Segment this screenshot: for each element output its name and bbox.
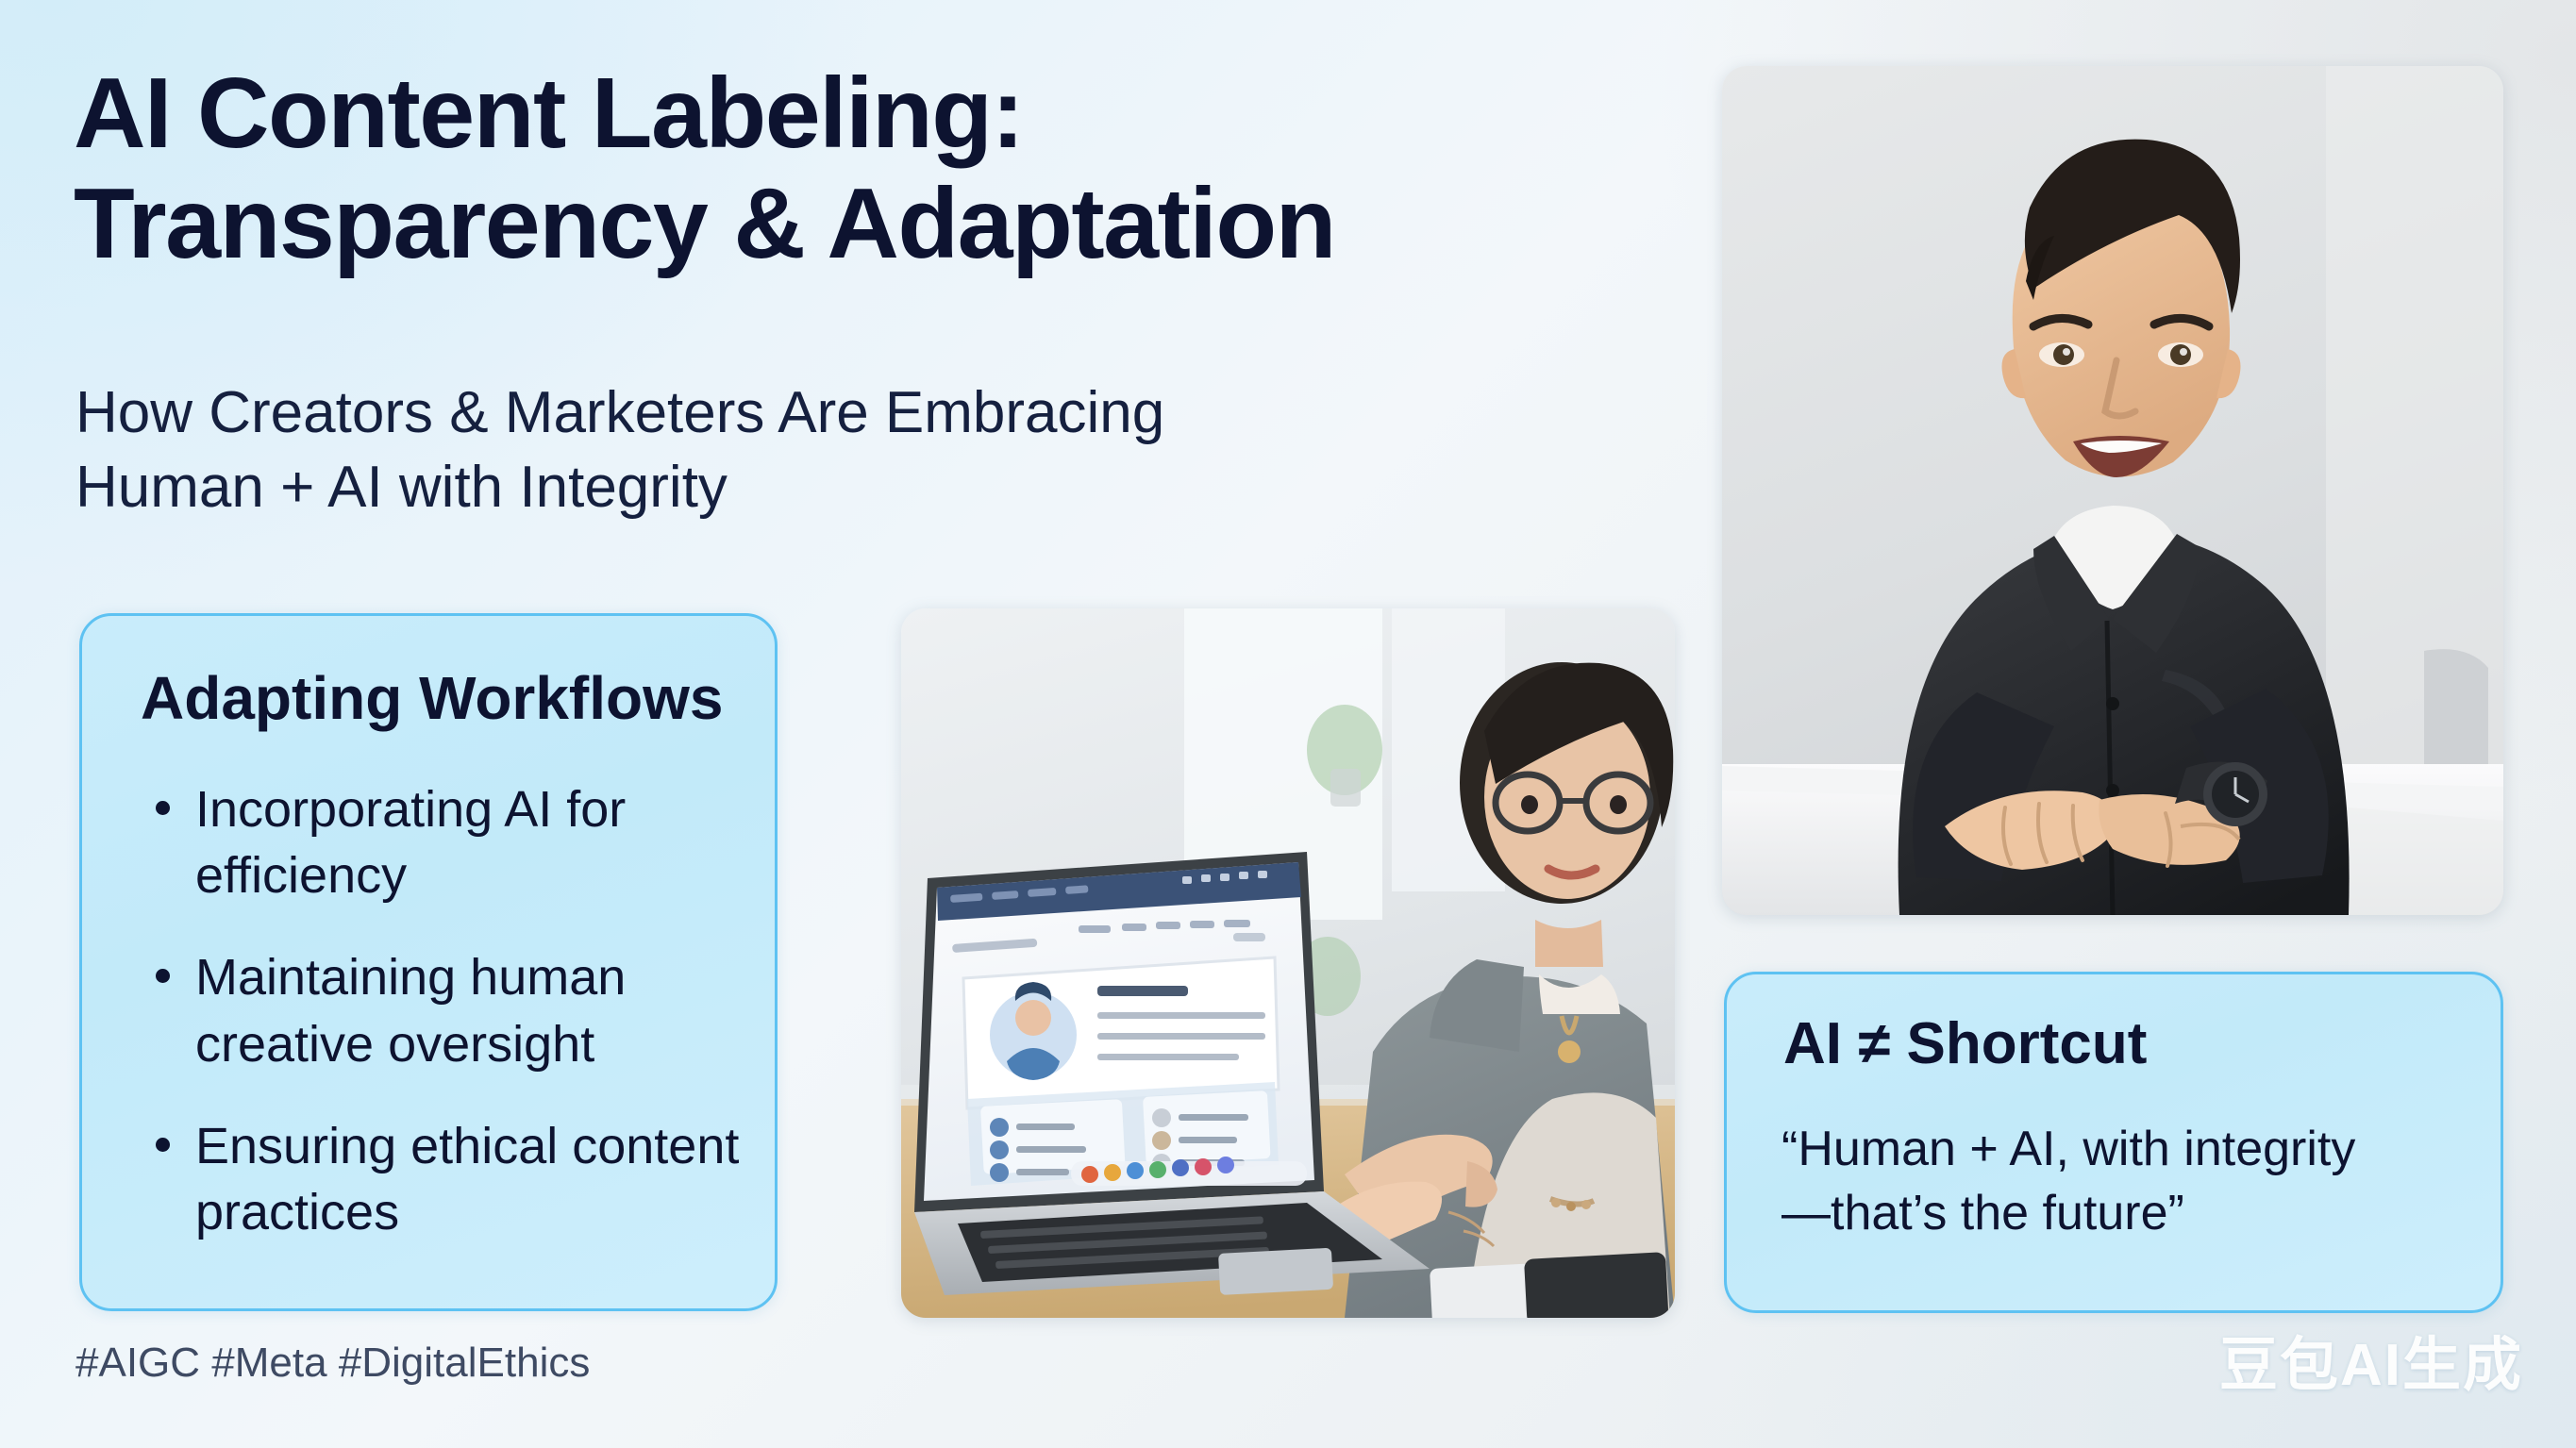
quote-line-1: “Human + AI, with integrity bbox=[1781, 1118, 2476, 1182]
list-item: Maintaining human creative oversight bbox=[131, 944, 743, 1076]
slide-canvas: AI Content Labeling: Transparency & Adap… bbox=[0, 0, 2576, 1448]
adapting-workflows-bullet-list: Incorporating AI for efficiency Maintain… bbox=[131, 776, 743, 1281]
ai-not-shortcut-card: AI ≠ Shortcut “Human + AI, with integrit… bbox=[1724, 972, 2503, 1313]
page-subtitle-line-1: How Creators & Marketers Are Embracing bbox=[75, 375, 1585, 450]
adapting-workflows-title: Adapting Workflows bbox=[141, 663, 723, 733]
portrait-photo bbox=[1722, 66, 2503, 915]
ai-generated-watermark: 豆包AI生成 bbox=[2219, 1317, 2523, 1402]
list-item: Incorporating AI for efficiency bbox=[131, 776, 743, 908]
laptop-workspace-illustration bbox=[901, 608, 1675, 1318]
page-title: AI Content Labeling: Transparency & Adap… bbox=[74, 58, 1734, 278]
page-title-line-2: Transparency & Adaptation bbox=[74, 169, 1734, 279]
page-subtitle: How Creators & Marketers Are Embracing H… bbox=[75, 375, 1585, 525]
ai-not-shortcut-title: AI ≠ Shortcut bbox=[1783, 1010, 2147, 1077]
laptop-workspace-photo bbox=[901, 608, 1675, 1318]
ai-not-shortcut-quote: “Human + AI, with integrity —that’s the … bbox=[1781, 1118, 2476, 1245]
hashtag-list: #AIGC #Meta #DigitalEthics bbox=[75, 1340, 590, 1387]
page-title-line-1: AI Content Labeling: bbox=[74, 58, 1734, 169]
adapting-workflows-card: Adapting Workflows Incorporating AI for … bbox=[79, 613, 778, 1311]
portrait-illustration bbox=[1722, 66, 2503, 915]
page-subtitle-line-2: Human + AI with Integrity bbox=[75, 450, 1585, 524]
list-item: Ensuring ethical content practices bbox=[131, 1113, 743, 1245]
quote-line-2: —that’s the future” bbox=[1781, 1182, 2476, 1246]
